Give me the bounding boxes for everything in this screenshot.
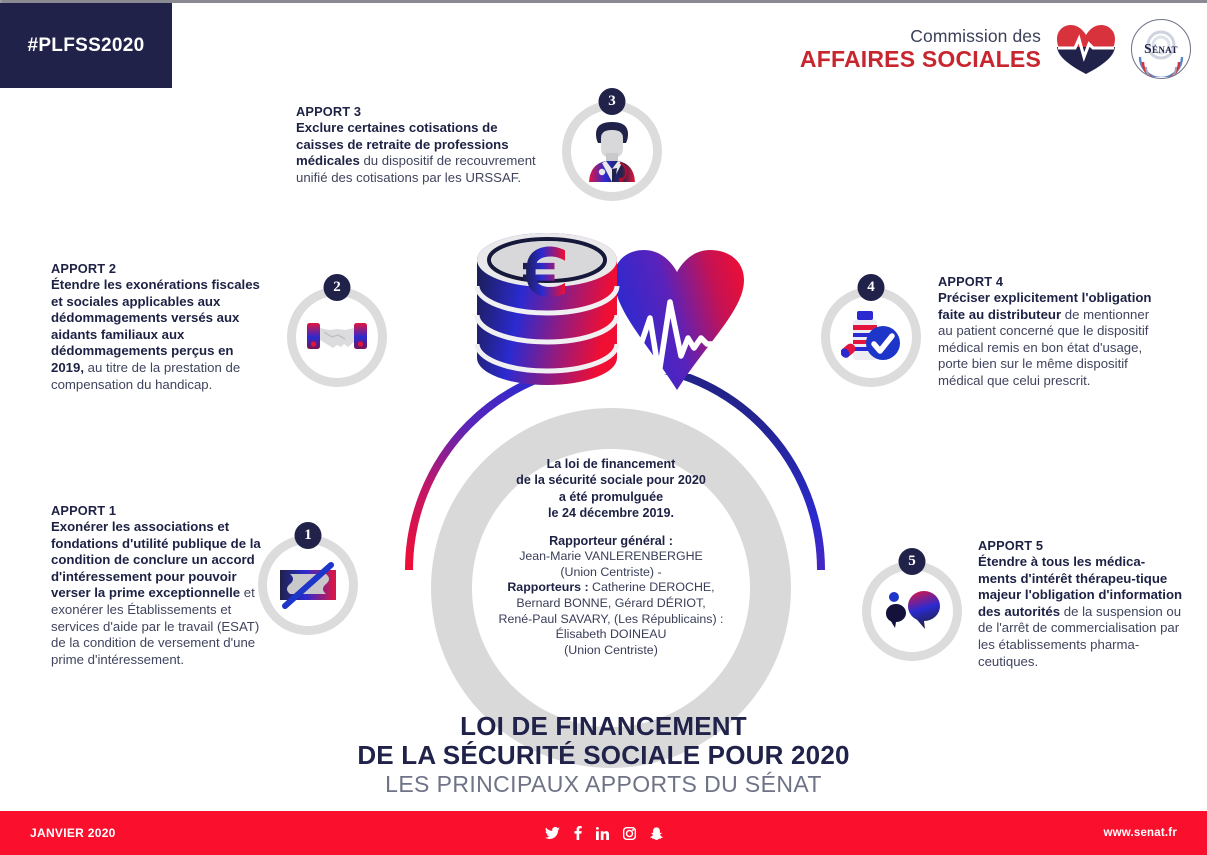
senat-logo-icon: Sénat (1131, 19, 1191, 79)
rapporteur-general-name: Jean-Marie VANLERENBERGHE (483, 549, 739, 565)
pill-bottle-check-icon (821, 287, 921, 387)
facebook-icon[interactable] (574, 826, 582, 840)
hashtag-badge: #PLFSS2020 (0, 3, 172, 88)
center-intro-line-1: La loi de financement (483, 456, 739, 472)
apport-1-title: APPORT 1 (51, 503, 266, 518)
handshake-icon (287, 287, 387, 387)
top-border (0, 0, 1207, 3)
rapporteurs-line-2: Bernard BONNE, Gérard DÉRIOT, (483, 596, 739, 612)
banknote-crossed-out-icon (258, 535, 358, 635)
center-spacer (483, 522, 739, 534)
commission-line1: Commission des (800, 27, 1041, 45)
linkedin-icon[interactable] (596, 827, 609, 840)
snapchat-icon[interactable] (650, 827, 663, 840)
apport-2-node[interactable]: 2 (287, 287, 387, 387)
center-intro-line-4: le 24 décembre 2019. (483, 505, 739, 521)
rapporteurs-line-5: (Union Centriste) (483, 643, 739, 659)
social-links (545, 826, 663, 840)
commission-line2: AFFAIRES SOCIALES (800, 47, 1041, 71)
center-text-block: La loi de financement de la sécurité soc… (483, 456, 739, 658)
apport-3-body: Exclure certaines cotisations de caisses… (296, 120, 541, 186)
rapporteurs-first: Catherine DEROCHE, (589, 580, 715, 594)
center-intro-line-3: a été promulguée (483, 489, 739, 505)
rapporteurs-label: Rapporteurs : (507, 580, 588, 594)
apport-1-body: Exonérer les associations et fondations … (51, 519, 266, 668)
page-title: LOI DE FINANCEMENT DE LA SÉCURITÉ SOCIAL… (0, 712, 1207, 798)
rapporteur-general-group: (Union Centriste) - (483, 565, 739, 581)
title-line-1: LOI DE FINANCEMENT (0, 712, 1207, 741)
doctor-icon (562, 101, 662, 201)
apport-1-bold: Exonérer les associations et fondations … (51, 519, 261, 600)
apport-4-number-badge: 4 (858, 274, 885, 301)
apport-4-title: APPORT 4 (938, 274, 1163, 289)
central-composition: La loi de financement de la sécurité soc… (395, 198, 825, 798)
apport-3-number-badge: 3 (599, 88, 626, 115)
apport-4-node[interactable]: 4 (821, 287, 921, 387)
title-line-2: DE LA SÉCURITÉ SOCIALE POUR 2020 (0, 741, 1207, 770)
rapporteurs-line-4: Élisabeth DOINEAU (483, 627, 739, 643)
footer-url[interactable]: www.senat.fr (1103, 827, 1177, 839)
center-intro: La loi de financement de la sécurité soc… (483, 456, 739, 522)
hashtag-label: #PLFSS2020 (27, 35, 144, 57)
apport-1-node[interactable]: 1 (258, 535, 358, 635)
footer-date: JANVIER 2020 (30, 826, 116, 840)
apport-1-number-badge: 1 (295, 522, 322, 549)
apport-2-title: APPORT 2 (51, 261, 266, 276)
apport-2-text: APPORT 2 Étendre les exonérations fiscal… (51, 261, 266, 393)
apport-3-text: APPORT 3 Exclure certaines cotisations d… (296, 104, 541, 186)
apport-5-body: Étendre à tous les médica-ments d'intérê… (978, 554, 1183, 670)
heart-pulse-icon (1055, 23, 1117, 75)
apport-2-body: Étendre les exonérations fiscales et soc… (51, 277, 266, 393)
twitter-icon[interactable] (545, 827, 560, 840)
senat-wordmark: Sénat (1144, 41, 1178, 57)
center-intro-line-2: de la sécurité sociale pour 2020 (483, 472, 739, 488)
speech-bubbles-icon (862, 561, 962, 661)
instagram-icon[interactable] (623, 827, 636, 840)
apport-5-node[interactable]: 5 (862, 561, 962, 661)
rapporteur-general-label: Rapporteur général : (483, 534, 739, 550)
apport-1-text: APPORT 1 Exonérer les associations et fo… (51, 503, 266, 668)
apport-2-number-badge: 2 (324, 274, 351, 301)
apport-4-body: Préciser explicitement l'obligation fait… (938, 290, 1163, 390)
commission-branding: Commission des AFFAIRES SOCIALES Sénat (800, 18, 1191, 80)
infographic-page: #PLFSS2020 Commission des AFFAIRES SOCIA… (0, 0, 1207, 855)
euro-coin-stack-and-heart-icon (445, 198, 775, 418)
rapporteurs-line-1: Rapporteurs : Catherine DEROCHE, (483, 580, 739, 596)
rapporteurs-line-3: René-Paul SAVARY, (Les Républicains) : (483, 612, 739, 628)
apport-4-text: APPORT 4 Préciser explicitement l'obliga… (938, 274, 1163, 390)
commission-text: Commission des AFFAIRES SOCIALES (800, 27, 1041, 71)
title-line-3: LES PRINCIPAUX APPORTS DU SÉNAT (0, 770, 1207, 798)
apport-3-title: APPORT 3 (296, 104, 541, 119)
apport-5-title: APPORT 5 (978, 538, 1183, 553)
footer-bar: JANVIER 2020 www.senat.fr (0, 811, 1207, 855)
apport-5-number-badge: 5 (899, 548, 926, 575)
apport-3-node[interactable]: 3 (562, 101, 662, 201)
apport-5-text: APPORT 5 Étendre à tous les médica-ments… (978, 538, 1183, 670)
